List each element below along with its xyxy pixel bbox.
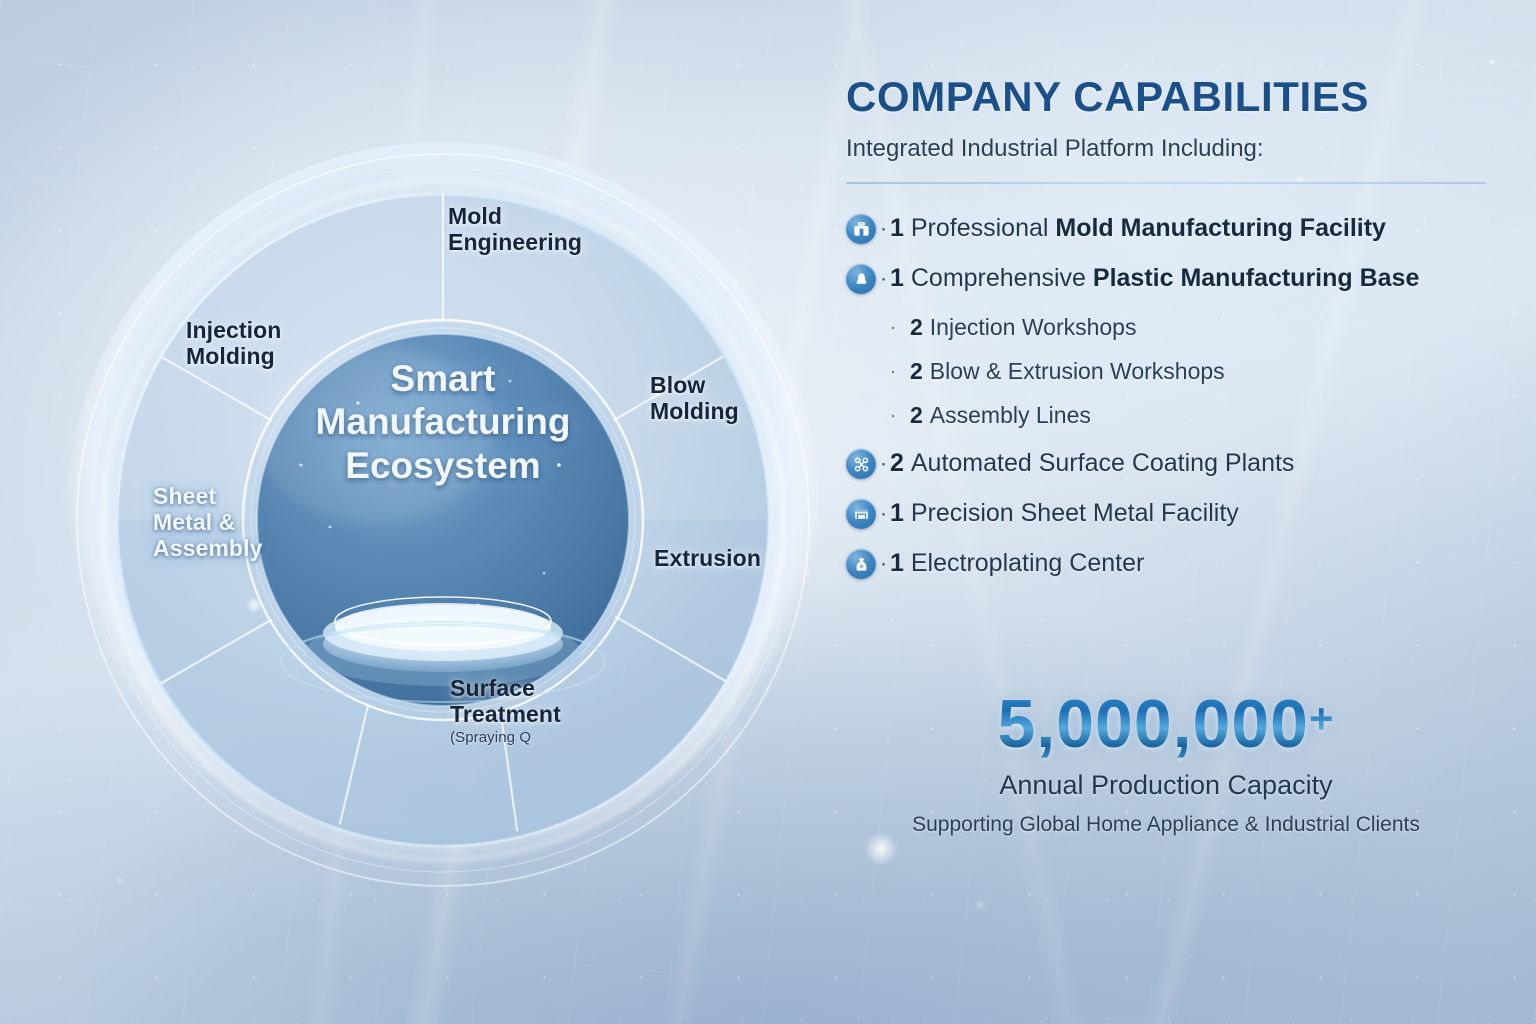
big-number: 5,000,000+ — [997, 690, 1334, 758]
list-item-text: 1 Professional Mold Manufacturing Facili… — [890, 215, 1386, 243]
sub-bullet-dot: · — [890, 361, 896, 382]
plating-flask-icon — [846, 549, 876, 579]
list-item-text: 1 Comprehensive Plastic Manufacturing Ba… — [890, 265, 1419, 293]
sub-list-item-count: 2 — [910, 314, 923, 340]
list-item-count: 1 — [890, 214, 904, 242]
list-item-text: 1 Precision Sheet Metal Facility — [890, 500, 1239, 528]
sub-list-item-text: 2Assembly Lines — [910, 402, 1091, 429]
center-title-line-1: Smart — [58, 357, 828, 400]
sub-list-item-label: Blow & Extrusion Workshops — [930, 358, 1225, 384]
list-item-text: 2 Automated Surface Coating Plants — [890, 450, 1294, 478]
list-item-count: 1 — [890, 264, 904, 292]
sub-list-item[interactable]: · 2Blow & Extrusion Workshops — [890, 358, 1486, 385]
list-item-normal: Professional — [911, 214, 1056, 242]
sub-list-item-count: 2 — [910, 358, 923, 384]
fan-coating-icon — [846, 449, 876, 479]
list-item-normal: Electroplating Center — [911, 549, 1144, 577]
bullet-separator: · — [880, 552, 887, 576]
sheet-label-line-1: Sheet — [153, 483, 216, 509]
bullet-separator: · — [880, 502, 887, 526]
smart-manufacturing-wheel: Smart Manufacturing Ecosystem — [58, 135, 828, 905]
production-capacity-stat: 5,000,000+ Annual Production Capacity Su… — [846, 690, 1486, 837]
divider — [846, 182, 1486, 184]
sub-list-item-text: 2Injection Workshops — [910, 314, 1136, 341]
extrusion-label: Extrusion — [654, 545, 761, 571]
list-item-count: 1 — [890, 549, 904, 577]
list-item-normal: Comprehensive — [911, 264, 1093, 292]
bullet-separator: · — [880, 452, 887, 476]
page-subtitle: Integrated Industrial Platform Including… — [846, 135, 1486, 163]
surface-label-sub: (Spraying Q — [450, 730, 561, 747]
sub-bullet-dot: · — [890, 317, 896, 338]
big-number-plus: + — [1309, 695, 1335, 742]
sub-list-item[interactable]: · 2Injection Workshops — [890, 314, 1486, 341]
sub-list-item[interactable]: · 2Assembly Lines — [890, 402, 1486, 429]
injection-label-line-1: Injection — [186, 317, 281, 343]
surface-label-line-2: Treatment — [450, 701, 561, 727]
list-item-normal: Automated Surface Coating Plants — [911, 449, 1295, 477]
sub-list-item-label: Injection Workshops — [930, 314, 1137, 340]
list-item[interactable]: · 2 Automated Surface Coating Plants — [846, 449, 1486, 479]
center-title-line-2: Manufacturing — [58, 400, 828, 443]
surface-label-line-1: Surface — [450, 675, 535, 701]
list-item-count: 1 — [890, 499, 904, 527]
list-item[interactable]: · 1 Electroplating Center — [846, 549, 1486, 579]
toolbox-icon — [846, 214, 876, 244]
stat-sub-caption: Supporting Global Home Appliance & Indus… — [846, 813, 1486, 837]
sheet-tray-icon — [846, 499, 876, 529]
stat-caption: Annual Production Capacity — [846, 770, 1486, 801]
sparkle-icon — [864, 832, 898, 866]
sheet-label-line-3: Assembly — [153, 535, 262, 561]
sub-list-item-count: 2 — [910, 402, 923, 428]
segment-label-surface-treatment: Surface Treatment (Spraying Q — [450, 675, 561, 747]
sub-list-item-label: Assembly Lines — [930, 402, 1091, 428]
capabilities-panel: COMPANY CAPABILITIES Integrated Industri… — [846, 76, 1486, 579]
segment-label-mold-engineering: Mold Engineering — [448, 203, 582, 255]
segment-label-sheet-metal-assembly: Sheet Metal & Assembly — [153, 483, 262, 561]
list-item-text: 1 Electroplating Center — [890, 550, 1144, 578]
page-title: COMPANY CAPABILITIES — [846, 76, 1486, 118]
list-item-bold: Plastic Manufacturing Base — [1093, 264, 1419, 292]
mold-label-line-1: Mold — [448, 203, 502, 229]
mold-label-line-2: Engineering — [448, 229, 582, 255]
bell-mold-icon — [846, 264, 876, 294]
list-item-count: 2 — [890, 449, 904, 477]
sub-bullet-dot: · — [890, 405, 896, 426]
wheel-center-title: Smart Manufacturing Ecosystem — [58, 357, 828, 487]
bullet-separator: · — [880, 267, 887, 291]
sheet-label-line-2: Metal & — [153, 509, 236, 535]
list-item[interactable]: · 1 Precision Sheet Metal Facility — [846, 499, 1486, 529]
sub-list-item-text: 2Blow & Extrusion Workshops — [910, 358, 1225, 385]
segment-label-extrusion: Extrusion — [654, 545, 761, 571]
capabilities-list: · 1 Professional Mold Manufacturing Faci… — [846, 214, 1486, 579]
list-item[interactable]: · 1 Comprehensive Plastic Manufacturing … — [846, 264, 1486, 294]
big-number-value: 5,000,000 — [997, 686, 1309, 762]
center-title-line-3: Ecosystem — [58, 444, 828, 487]
list-item[interactable]: · 1 Professional Mold Manufacturing Faci… — [846, 214, 1486, 244]
bullet-separator: · — [880, 217, 887, 241]
list-item-normal: Precision Sheet Metal Facility — [911, 499, 1239, 527]
list-item-bold: Mold Manufacturing Facility — [1055, 214, 1386, 242]
